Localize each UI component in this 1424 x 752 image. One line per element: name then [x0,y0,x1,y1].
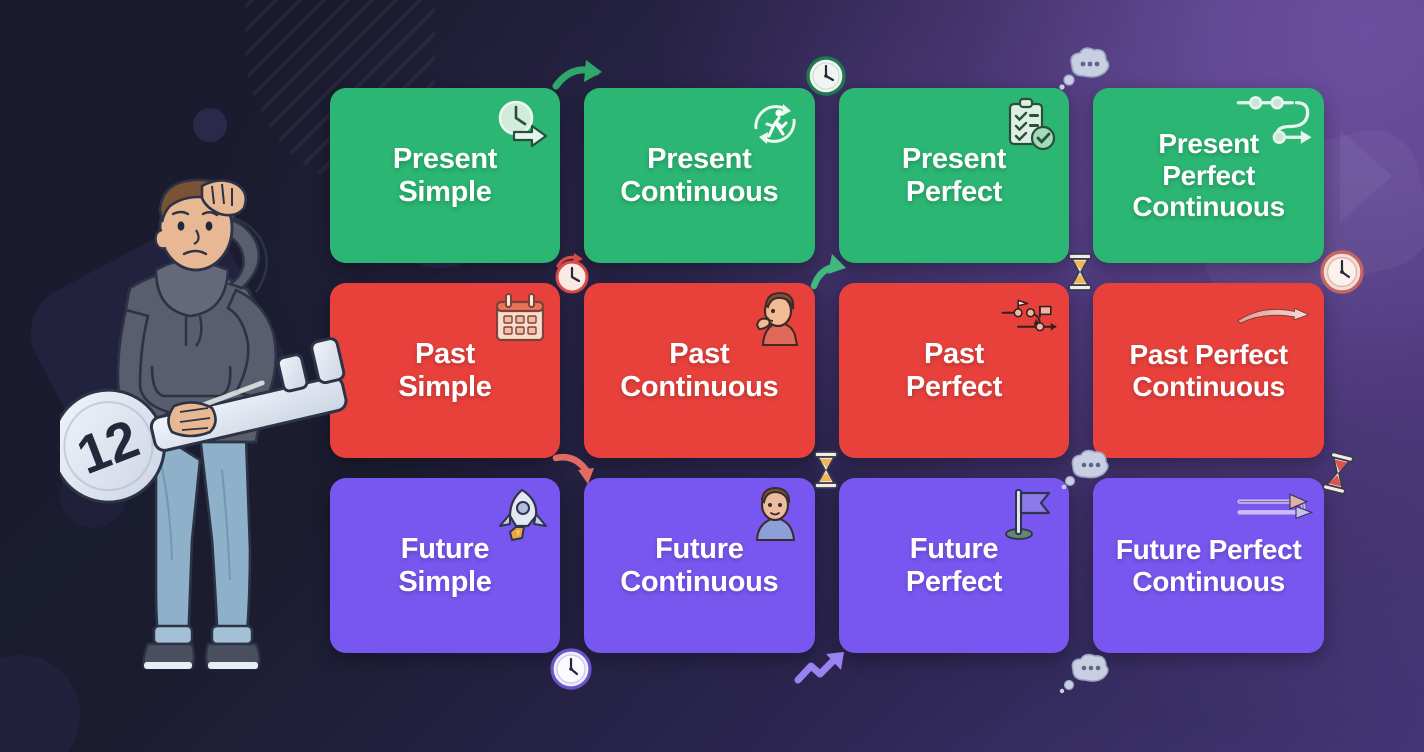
tense-card-label: Future Perfect Continuous [1102,534,1316,597]
confused-man-illustration: 12 [60,160,380,680]
tense-card-past-perfect-continuous[interactable]: Past Perfect Continuous [1093,283,1324,458]
tense-card-label: Future Perfect [892,533,1016,599]
tense-card-label: Past Perfect Continuous [1116,339,1302,402]
tense-card-present-perfect-continuous[interactable]: Present Perfect Continuous [1093,88,1324,263]
tense-card-future-perfect-continuous[interactable]: Future Perfect Continuous [1093,478,1324,653]
tense-card-label: Past Continuous [606,338,792,404]
tense-card-label: Past Simple [384,338,505,404]
tense-card-label: Present Perfect Continuous [1118,128,1299,223]
zigzag-double-arrow-icon [1236,482,1314,538]
long-curved-arrow-icon [1236,287,1314,343]
poster-canvas: 12 [0,0,1424,752]
thought-bubble-top-icon [1056,46,1112,90]
tense-card-present-perfect[interactable]: Present Perfect [839,88,1070,263]
bg-triangle-right [1340,130,1392,222]
tense-card-label: Present Perfect [888,143,1020,209]
purple-wall-clock-icon [550,648,592,690]
trend-up-arrow-icon [794,650,850,686]
tense-card-future-perfect[interactable]: Future Perfect [839,478,1070,653]
tense-card-label: Present Continuous [606,143,792,209]
bg-circle-small [193,108,227,142]
tense-card-label: Past Perfect [892,338,1016,404]
tense-card-present-continuous[interactable]: Present Continuous [584,88,815,263]
thought-bubble-bottom-icon [1056,652,1112,694]
tense-card-label: Present Simple [379,143,511,209]
tense-grid: Present Simple Present Continuous Presen… [330,88,1324,653]
tense-card-label: Future Continuous [606,533,792,599]
pink-wall-clock-icon [1320,250,1364,294]
tense-card-past-perfect[interactable]: Past Perfect [839,283,1070,458]
tense-card-future-continuous[interactable]: Future Continuous [584,478,815,653]
tense-card-past-continuous[interactable]: Past Continuous [584,283,815,458]
tense-card-label: Future Simple [384,533,505,599]
